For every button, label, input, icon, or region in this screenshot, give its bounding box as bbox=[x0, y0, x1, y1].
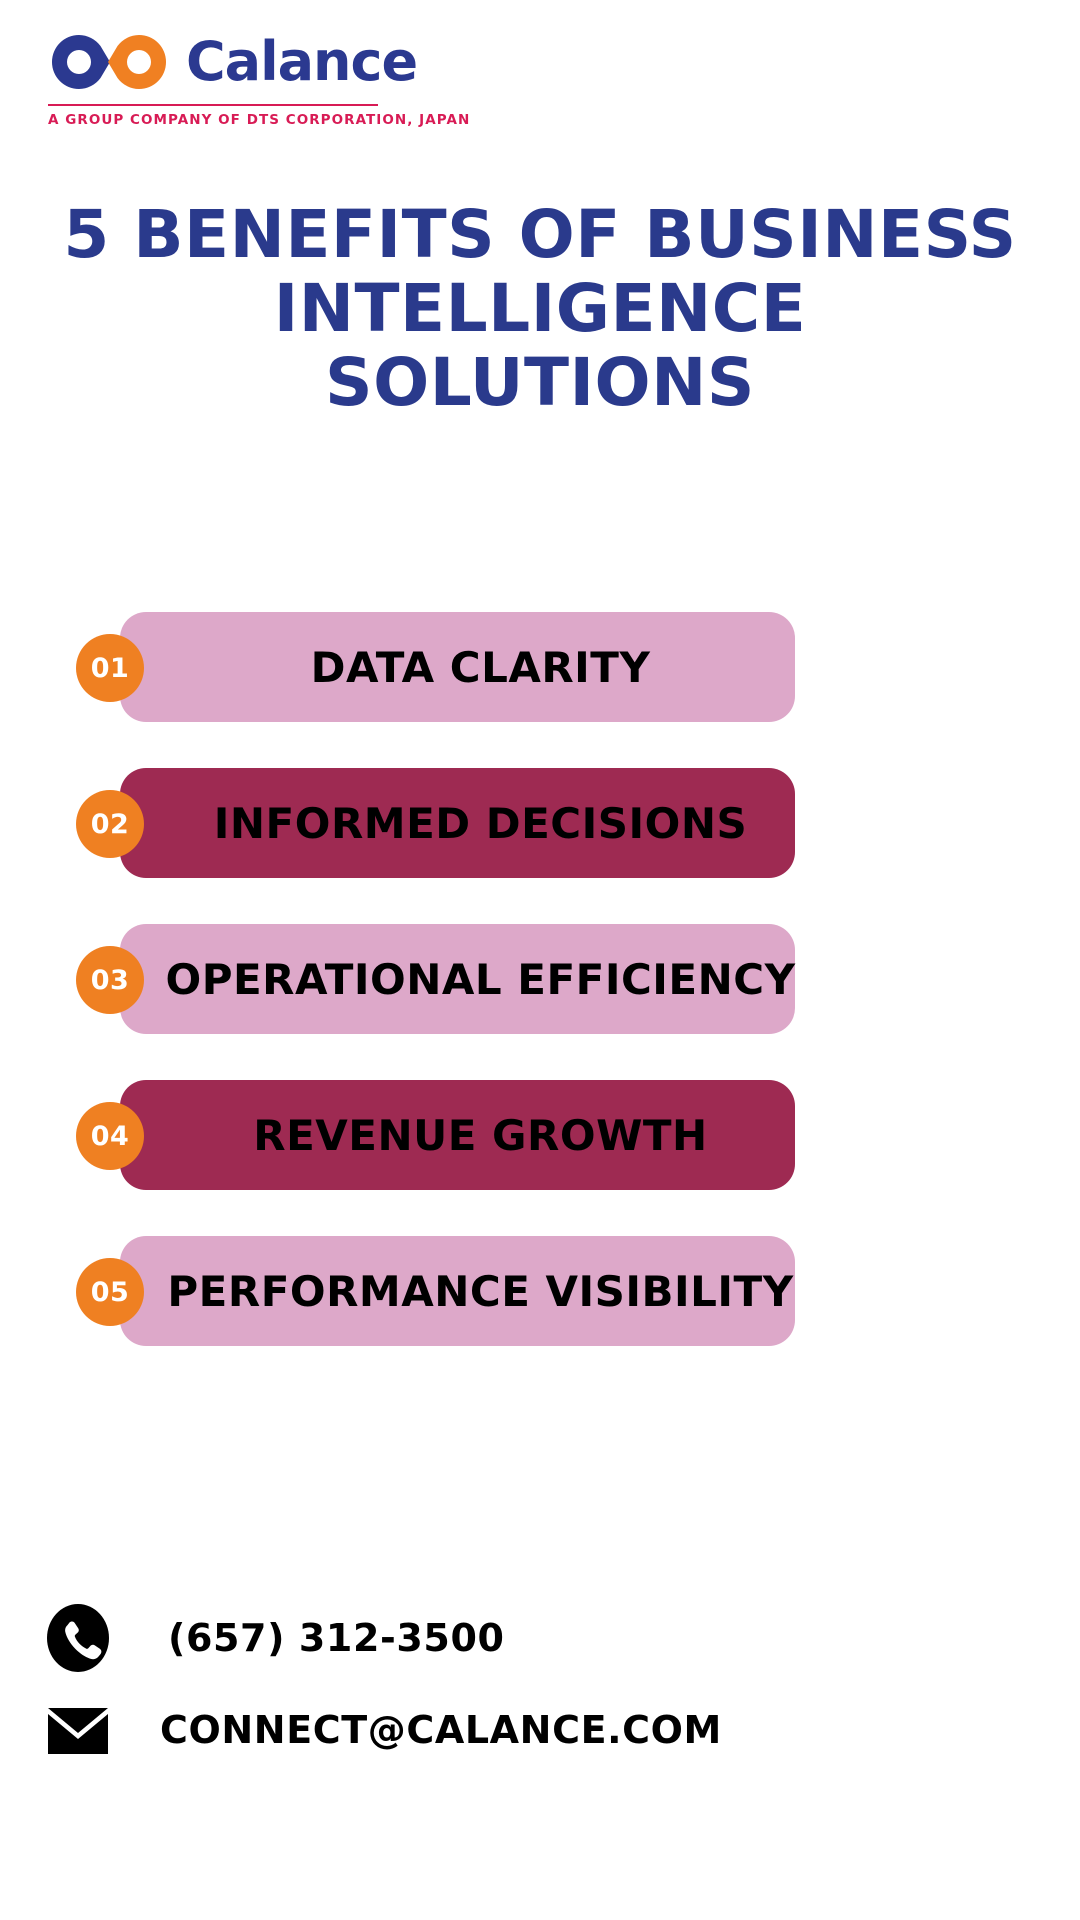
page-title-line-1: 5 BENEFITS OF BUSINESS bbox=[0, 198, 1080, 272]
list-item[interactable]: OPERATIONAL EFFICIENCY 03 bbox=[0, 924, 1080, 1070]
benefit-pill-02[interactable]: INFORMED DECISIONS bbox=[120, 768, 795, 878]
contact-email-row[interactable]: CONNECT@CALANCE.COM bbox=[44, 1684, 944, 1776]
page-title-line-2: INTELLIGENCE bbox=[0, 272, 1080, 346]
calance-infinity-logo-icon bbox=[48, 31, 172, 93]
list-item[interactable]: INFORMED DECISIONS 02 bbox=[0, 768, 1080, 914]
logo-divider-rule bbox=[48, 104, 378, 106]
benefit-number-badge: 01 bbox=[76, 634, 144, 702]
contact-email-address: CONNECT@CALANCE.COM bbox=[160, 1708, 722, 1752]
benefit-number-badge: 05 bbox=[76, 1258, 144, 1326]
benefit-label: PERFORMANCE VISIBILITY bbox=[121, 1267, 793, 1316]
contact-phone-row[interactable]: (657) 312-3500 bbox=[44, 1592, 944, 1684]
brand-wordmark: Calance bbox=[186, 35, 417, 89]
benefit-pill-05[interactable]: PERFORMANCE VISIBILITY bbox=[120, 1236, 795, 1346]
benefit-label: OPERATIONAL EFFICIENCY bbox=[120, 955, 796, 1004]
list-item[interactable]: REVENUE GROWTH 04 bbox=[0, 1080, 1080, 1226]
benefit-number-badge: 04 bbox=[76, 1102, 144, 1170]
contact-phone-number: (657) 312-3500 bbox=[168, 1616, 505, 1660]
list-item[interactable]: DATA CLARITY 01 bbox=[0, 612, 1080, 758]
phone-icon bbox=[44, 1603, 112, 1673]
benefits-list: DATA CLARITY 01 INFORMED DECISIONS 02 OP… bbox=[0, 612, 1080, 1392]
list-item[interactable]: PERFORMANCE VISIBILITY 05 bbox=[0, 1236, 1080, 1382]
page-title-line-3: SOLUTIONS bbox=[0, 346, 1080, 420]
benefit-number-badge: 03 bbox=[76, 946, 144, 1014]
benefit-pill-03[interactable]: OPERATIONAL EFFICIENCY bbox=[120, 924, 795, 1034]
contact-footer: (657) 312-3500 CONNECT@CALANCE.COM bbox=[44, 1592, 944, 1776]
benefit-label: REVENUE GROWTH bbox=[207, 1111, 707, 1160]
logo-row: Calance bbox=[38, 26, 438, 98]
envelope-icon bbox=[44, 1695, 112, 1765]
benefit-pill-01[interactable]: DATA CLARITY bbox=[120, 612, 795, 722]
page-title: 5 BENEFITS OF BUSINESS INTELLIGENCE SOLU… bbox=[0, 198, 1080, 420]
brand-tagline: A GROUP COMPANY OF DTS CORPORATION, JAPA… bbox=[48, 112, 438, 128]
benefit-number-badge: 02 bbox=[76, 790, 144, 858]
benefit-pill-04[interactable]: REVENUE GROWTH bbox=[120, 1080, 795, 1190]
brand-logo-block: Calance A GROUP COMPANY OF DTS CORPORATI… bbox=[38, 26, 438, 128]
benefit-label: INFORMED DECISIONS bbox=[168, 799, 747, 848]
benefit-label: DATA CLARITY bbox=[265, 643, 651, 692]
